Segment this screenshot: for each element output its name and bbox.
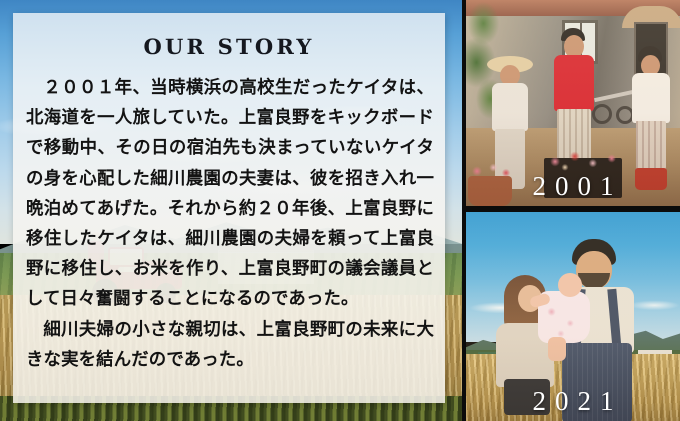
p1-farmer-shirt xyxy=(492,83,528,131)
year-label-2001: 2001 xyxy=(466,171,680,202)
story-paragraph-1: ２００１年、当時横浜の高校生だったケイタは、北海道を一人旅していた。上富良野をキ… xyxy=(26,73,434,315)
photo-2021: 2021 xyxy=(466,212,680,421)
page-title: OUR STORY xyxy=(13,34,445,59)
p2-person-baby xyxy=(534,273,596,363)
story-column: OUR STORY ２００１年、当時横浜の高校生だったケイタは、北海道を一人旅し… xyxy=(0,0,462,421)
story-paragraph-2: 細川夫婦の小さな親切は、上富良野町の未来に大きな実を結んだのであった。 xyxy=(26,315,434,375)
p1-person-wife xyxy=(630,46,672,190)
p1-kickboard-bar xyxy=(594,90,634,102)
photo-column: 2001 xyxy=(462,0,680,421)
photo-2001: 2001 xyxy=(466,0,680,206)
story-body-text: ２００１年、当時横浜の高校生だったケイタは、北海道を一人旅していた。上富良野をキ… xyxy=(26,73,434,375)
p2-baby-head xyxy=(558,273,582,297)
story-text-panel: OUR STORY ２００１年、当時横浜の高校生だったケイタは、北海道を一人旅し… xyxy=(13,13,445,403)
year-label-2021: 2021 xyxy=(466,386,680,417)
p2-baby-leg xyxy=(548,337,566,361)
p1-flowers-center xyxy=(542,146,624,172)
p1-wife-trousers xyxy=(636,121,666,171)
our-story-panel: OUR STORY ２００１年、当時横浜の高校生だったケイタは、北海道を一人旅し… xyxy=(0,0,680,421)
p1-wife-top xyxy=(632,73,670,123)
p1-keita-red-shirt xyxy=(554,55,594,111)
